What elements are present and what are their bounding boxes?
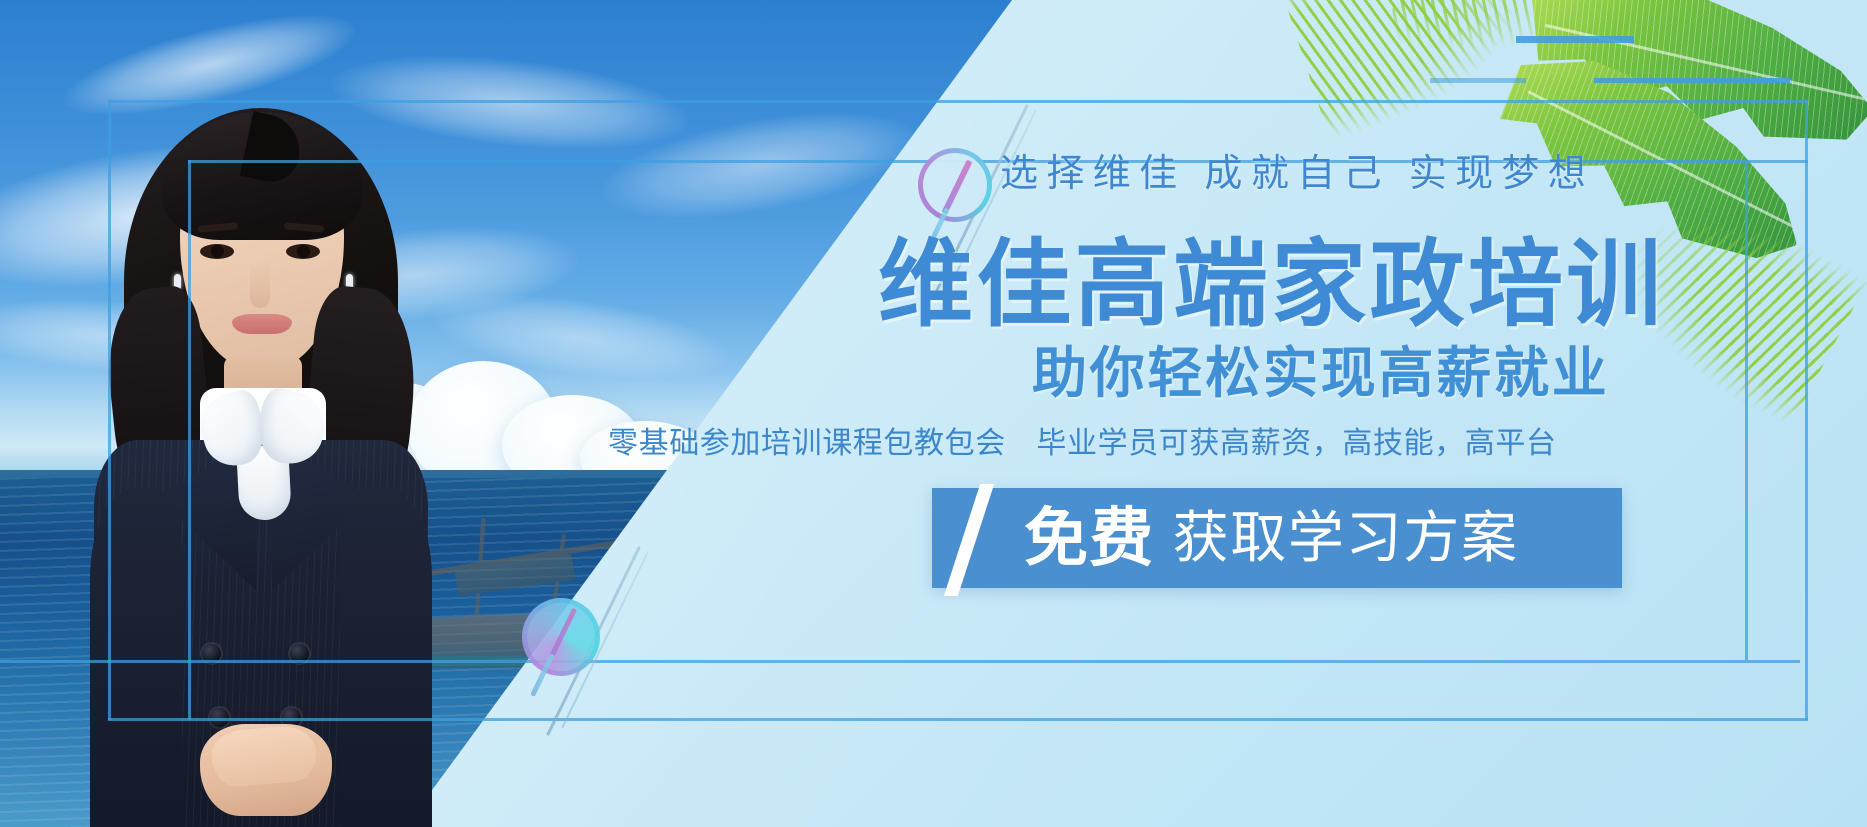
get-study-plan-button[interactable]: 免费 获取学习方案 bbox=[932, 488, 1622, 588]
frame-dash-accent bbox=[1516, 36, 1634, 43]
slash-accent-icon bbox=[944, 484, 994, 596]
page-title: 维佳高端家政培训 bbox=[878, 208, 1665, 345]
cta-highlight-label: 免费 bbox=[1024, 506, 1155, 570]
frame-dash-accent bbox=[1594, 78, 1790, 83]
subtitle: 助你轻松实现高薪就业 bbox=[1032, 328, 1610, 408]
frame-line-left-outer bbox=[108, 100, 111, 720]
frame-line-top-outer bbox=[108, 100, 1808, 103]
frame-line-left-inner bbox=[188, 160, 191, 720]
banner-content: 选择维佳 成就自己 实现梦想 维佳高端家政培训 助你轻松实现高薪就业 零基础参加… bbox=[560, 120, 1820, 720]
promo-banner: 选择维佳 成就自己 实现梦想 维佳高端家政培训 助你轻松实现高薪就业 零基础参加… bbox=[0, 0, 1867, 827]
tagline: 选择维佳 成就自己 实现梦想 bbox=[1000, 142, 1594, 197]
frame-dash-accent bbox=[1430, 78, 1526, 83]
description: 零基础参加培训课程包教包会 毕业学员可获高薪资，高技能，高平台 bbox=[608, 418, 1557, 462]
instructor-portrait bbox=[96, 88, 426, 827]
cta-label: 获取学习方案 bbox=[1173, 510, 1519, 566]
